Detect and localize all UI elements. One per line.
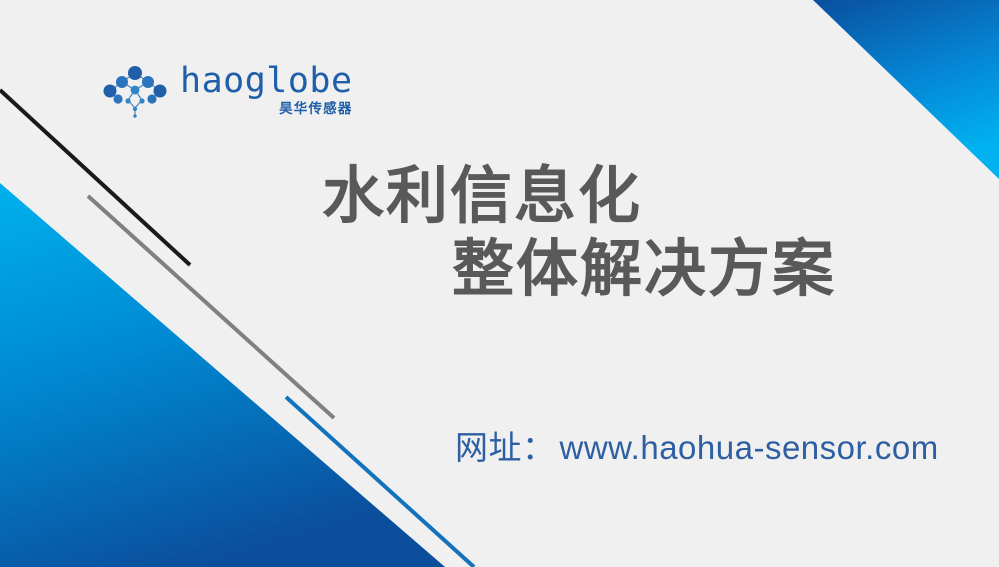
logo-text-group: haoglobe 昊华传感器 bbox=[180, 64, 353, 116]
website-line: 网址： www.haohua-sensor.com bbox=[455, 421, 939, 469]
presentation-title-slide: haoglobe 昊华传感器 水利信息化 整体解决方案 网址： www.haoh… bbox=[0, 0, 999, 567]
website-label: 网址： bbox=[455, 421, 556, 469]
logo-wordmark: haoglobe bbox=[180, 64, 353, 99]
top-right-triangle bbox=[813, 0, 999, 179]
logo-subtitle: 昊华传感器 bbox=[279, 102, 353, 116]
haoglobe-network-dots-icon bbox=[96, 60, 174, 120]
title-line-1: 水利信息化 bbox=[0, 160, 999, 233]
title-line-2: 整体解决方案 bbox=[0, 233, 999, 306]
company-logo: haoglobe 昊华传感器 bbox=[96, 57, 326, 123]
slide-title: 水利信息化 整体解决方案 bbox=[0, 160, 999, 306]
website-url[interactable]: www.haohua-sensor.com bbox=[560, 429, 939, 467]
